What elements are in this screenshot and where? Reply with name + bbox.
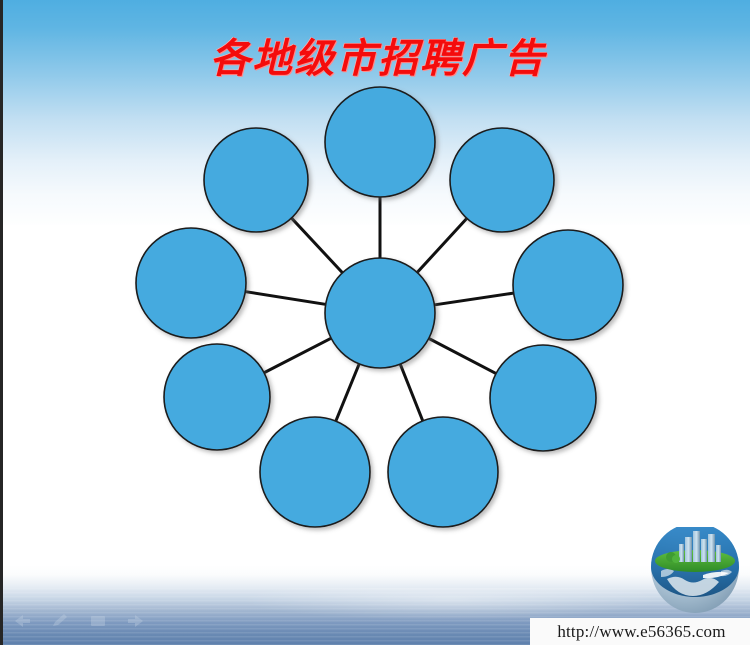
globe-city-logo xyxy=(643,527,747,613)
node-left-shape[interactable] xyxy=(136,228,246,338)
node-upper-left[interactable] xyxy=(204,128,308,232)
node-lower-left-shape[interactable] xyxy=(164,344,270,450)
pen-button[interactable] xyxy=(49,612,71,630)
node-upper-right-shape[interactable] xyxy=(450,128,554,232)
spoke-node-bottom-right xyxy=(400,362,424,422)
node-upper-left-shape[interactable] xyxy=(204,128,308,232)
spoke-node-lower-right xyxy=(427,338,498,375)
node-upper-right[interactable] xyxy=(450,128,554,232)
node-bottom-right[interactable] xyxy=(388,417,498,527)
hub-node[interactable] xyxy=(325,258,435,368)
node-bottom-right-shape[interactable] xyxy=(388,417,498,527)
node-bottom-left[interactable] xyxy=(260,417,370,527)
spoke-node-left xyxy=(243,291,327,304)
spoke-node-upper-right xyxy=(416,217,468,274)
presentation-controls xyxy=(11,612,147,630)
next-slide-button[interactable] xyxy=(125,612,147,630)
node-top-shape[interactable] xyxy=(325,87,435,197)
screen-button[interactable] xyxy=(87,612,109,630)
node-left[interactable] xyxy=(136,228,246,338)
node-bottom-left-shape[interactable] xyxy=(260,417,370,527)
node-top[interactable] xyxy=(325,87,435,197)
spoke-node-bottom-left xyxy=(335,362,360,423)
node-right-shape[interactable] xyxy=(513,230,623,340)
node-right[interactable] xyxy=(513,230,623,340)
spoke-node-upper-left xyxy=(290,217,344,275)
watermark-url: http://www.e56365.com xyxy=(530,618,750,645)
spoke-node-lower-left xyxy=(262,337,333,373)
hub-shape[interactable] xyxy=(325,258,435,368)
radial-diagram xyxy=(3,0,750,645)
node-group xyxy=(136,87,623,527)
node-lower-left[interactable] xyxy=(164,344,270,450)
slide-canvas: 各地级市招聘广告 xyxy=(0,0,750,645)
spoke-node-right xyxy=(432,293,515,305)
prev-slide-button[interactable] xyxy=(11,612,33,630)
node-lower-right-shape[interactable] xyxy=(490,345,596,451)
node-lower-right[interactable] xyxy=(490,345,596,451)
